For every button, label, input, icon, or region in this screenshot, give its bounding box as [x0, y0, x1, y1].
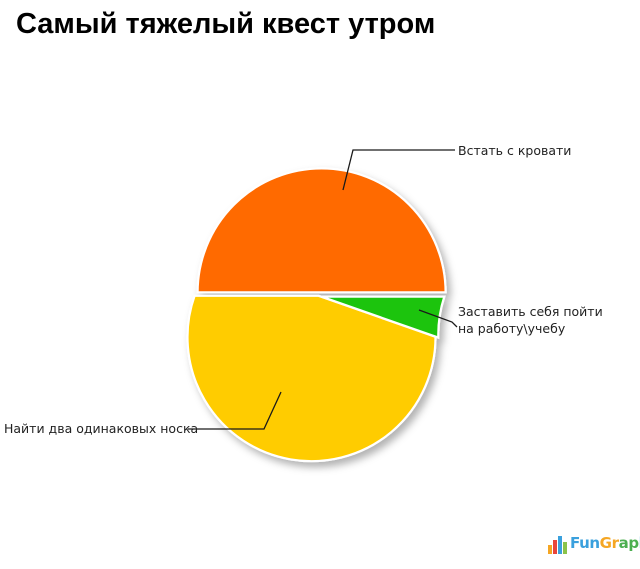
pie-label-nayti-dva-noska: Найти два одинаковых носка — [4, 420, 198, 437]
pie-label-vstat-s-krovati: Встать с кровати — [458, 142, 571, 159]
pie-label-line-1: Встать с кровати — [458, 142, 571, 159]
wordmark-char-4: r — [612, 534, 619, 552]
wordmark-char-0: F — [570, 534, 579, 552]
pie-label-zastavit-sebya: Заставить себя пойти на работу\учебу — [458, 303, 603, 337]
wordmark-char-5: a — [619, 534, 629, 552]
wordmark-char-1: u — [579, 534, 589, 552]
bar-chart-icon — [548, 536, 568, 554]
wordmark-char-3: G — [600, 534, 612, 552]
pie-chart — [0, 0, 640, 565]
pie-label-line-1: Найти два одинаковых носка — [4, 420, 198, 437]
pie-chart-svg — [0, 0, 640, 565]
wordmark-char-6: p — [628, 534, 638, 552]
pie-label-line-2: на работу\учебу — [458, 320, 603, 337]
pie-slice-orange[interactable] — [198, 168, 446, 292]
pie-slices-group — [188, 168, 446, 461]
fungraph-wordmark: FunGraph — [570, 533, 640, 553]
fungraph-watermark: FunGraph — [548, 533, 632, 555]
pie-label-line-1: Заставить себя пойти — [458, 303, 603, 320]
wordmark-char-2: n — [589, 534, 599, 552]
